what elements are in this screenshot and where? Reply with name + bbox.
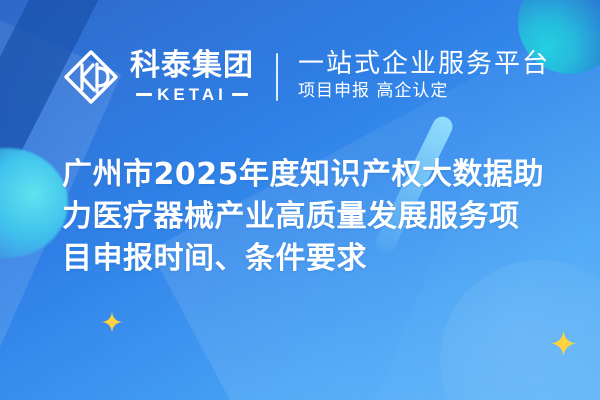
- headline-line-3: 目申报时间、条件要求: [62, 238, 548, 280]
- four-point-sparkle-icon: [102, 312, 122, 332]
- banner-headline: 广州市2025年度知识产权大数据助 力医疗器械产业高质量发展服务项 目申报时间、…: [62, 154, 548, 280]
- wordmark-rule-right: [232, 93, 248, 96]
- tagline-secondary: 项目申报 高企认定: [298, 79, 550, 105]
- brand-name-cn: 科泰集团: [130, 51, 254, 81]
- headline-line-2: 力医疗器械产业高质量发展服务项: [62, 196, 548, 238]
- header-divider: [276, 53, 278, 101]
- cyan-glow-orb: [0, 148, 68, 258]
- banner-header: 科泰集团 KETAI 一站式企业服务平台 项目申报 高企认定: [0, 36, 600, 118]
- brand-name-en: KETAI: [157, 86, 227, 103]
- wordmark-rule-left: [136, 93, 152, 96]
- brand-tagline: 一站式企业服务平台 项目申报 高企认定: [298, 49, 550, 105]
- faint-bubble-shape: [440, 260, 600, 400]
- promo-banner: 科泰集团 KETAI 一站式企业服务平台 项目申报 高企认定 广州市2025年度…: [0, 0, 600, 400]
- ketai-diamond-kd-logo-icon: [62, 48, 120, 106]
- brand-name-en-row: KETAI: [136, 86, 248, 103]
- brand-wordmark: 科泰集团 KETAI: [130, 51, 254, 103]
- tagline-primary: 一站式企业服务平台: [298, 49, 550, 79]
- brand-logo: 科泰集团 KETAI: [62, 48, 254, 106]
- headline-line-1: 广州市2025年度知识产权大数据助: [62, 154, 548, 196]
- four-point-sparkle-icon: [551, 331, 576, 356]
